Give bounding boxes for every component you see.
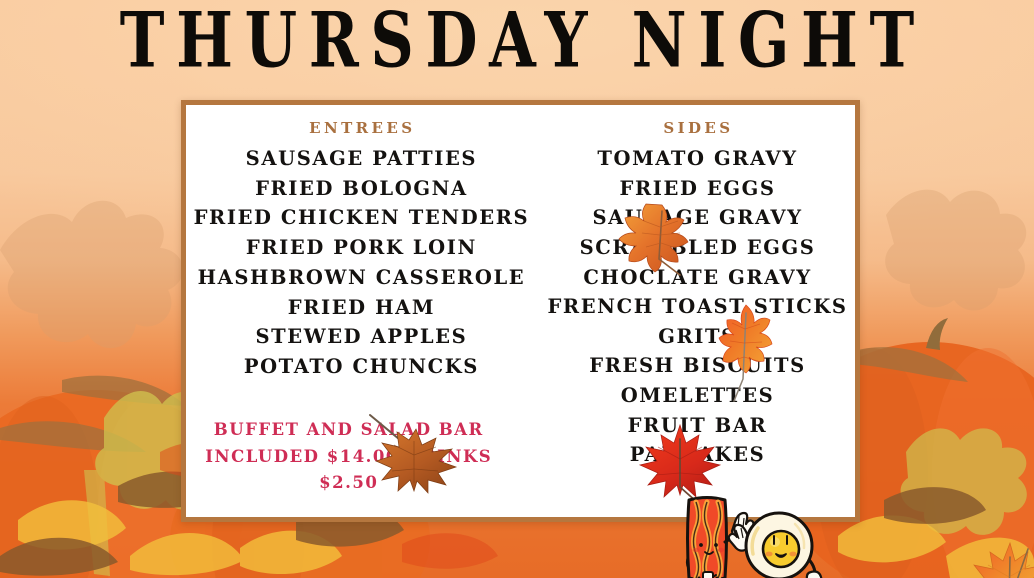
- menu-card: ENTREES SAUSAGE PATTIES FRIED BOLOGNA FR…: [181, 100, 860, 522]
- list-item: PANCAKES: [529, 440, 864, 470]
- buffet-note-line-1: BUFFET AND SALAD BAR: [192, 417, 504, 444]
- buffet-note-line-2: INCLUDED $14.00 DRINKS: [192, 444, 504, 471]
- orange-yellow-maple-leaf-icon: [966, 539, 1034, 578]
- list-item: GRITS: [529, 322, 864, 352]
- sides-column: SIDES TOMATO GRAVY FRIED EGGS SAUSAGE GR…: [529, 119, 864, 517]
- list-item: OMELETTES: [529, 381, 864, 411]
- list-item: FRESH BISCUITS: [529, 351, 864, 381]
- sides-heading: SIDES: [529, 119, 864, 137]
- list-item: SCRAMBLED EGGS: [529, 233, 864, 263]
- poster-title: THURSDAY NIGHT: [16, 2, 1019, 79]
- entrees-heading: ENTREES: [192, 119, 529, 137]
- list-item: FRUIT BAR: [529, 411, 864, 441]
- list-item: FRIED HAM: [192, 293, 529, 323]
- list-item: CHOCLATE GRAVY: [529, 263, 864, 293]
- list-item: SAUSAGE GRAVY: [529, 203, 864, 233]
- list-item: FRIED PORK LOIN: [192, 233, 529, 263]
- buffet-and-salad-bar-note: BUFFET AND SALAD BAR INCLUDED $14.00 DRI…: [192, 417, 504, 497]
- list-item: HASHBROWN CASSEROLE: [192, 263, 529, 293]
- list-item: FRENCH TOAST STICKS: [529, 292, 864, 322]
- list-item: SAUSAGE PATTIES: [192, 144, 529, 174]
- list-item: FRIED BOLOGNA: [192, 174, 529, 204]
- list-item: STEWED APPLES: [192, 322, 529, 352]
- list-item: POTATO CHUNCKS: [192, 352, 529, 382]
- fried-egg-character-icon: [729, 513, 822, 578]
- thursday-night-menu-poster: THURSDAY NIGHT ENTREES SAUSAGE PATTIES F…: [0, 0, 1034, 578]
- list-item: TOMATO GRAVY: [529, 144, 864, 174]
- sides-list: TOMATO GRAVY FRIED EGGS SAUSAGE GRAVY SC…: [529, 144, 864, 470]
- buffet-note-line-3: $2.50: [192, 470, 504, 497]
- entrees-list: SAUSAGE PATTIES FRIED BOLOGNA FRIED CHIC…: [192, 144, 529, 382]
- list-item: FRIED CHICKEN TENDERS: [192, 203, 529, 233]
- list-item: FRIED EGGS: [529, 174, 864, 204]
- menu-columns: ENTREES SAUSAGE PATTIES FRIED BOLOGNA FR…: [186, 105, 855, 517]
